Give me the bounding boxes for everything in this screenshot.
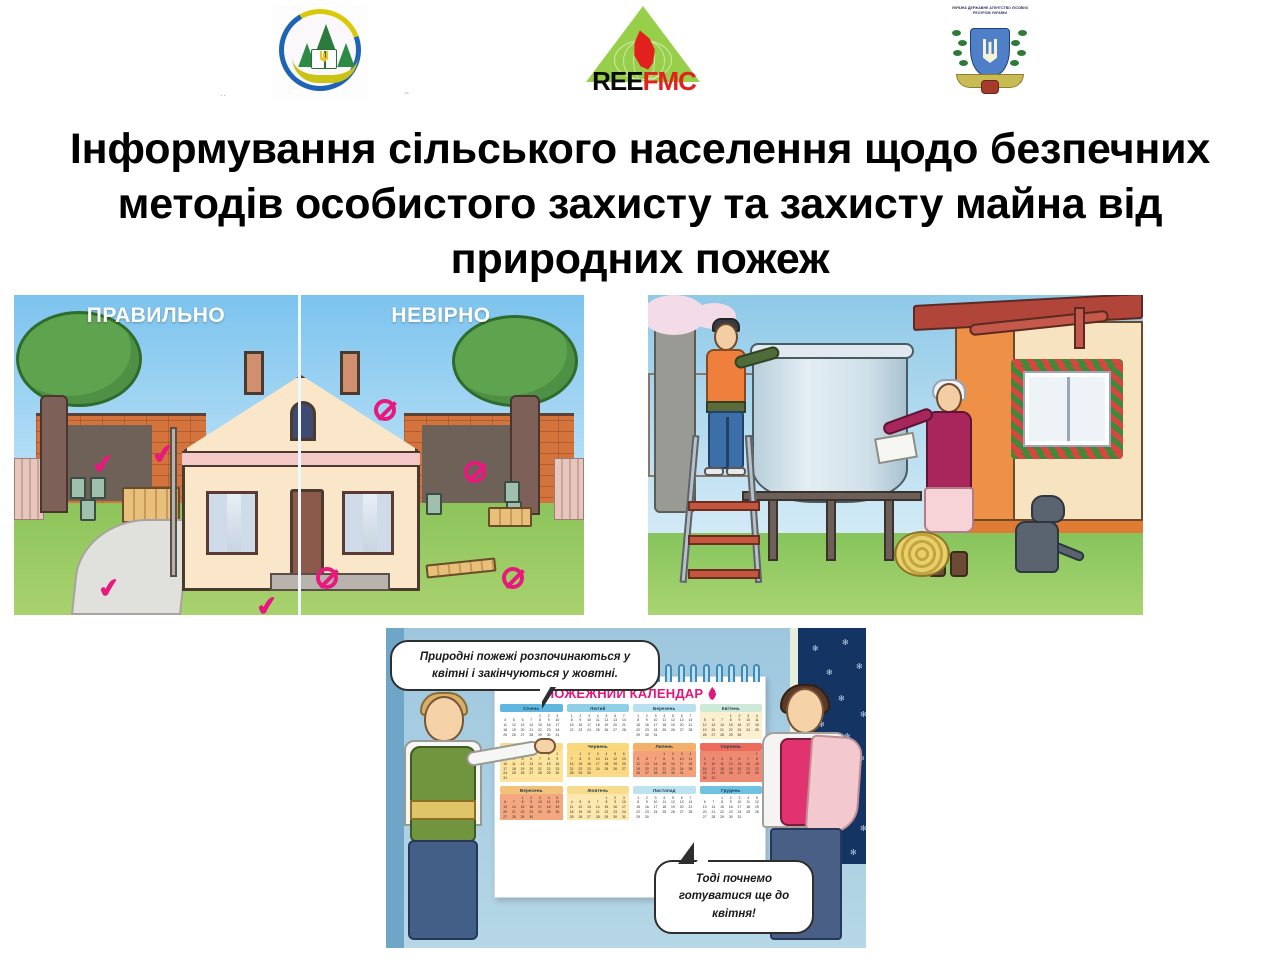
calendar-month-days: 1234567891011121314151617181920212223242…: [700, 794, 763, 820]
house-window: [1025, 373, 1109, 445]
speech-bubble-woman: Тоді почнемо готуватися ще до квітня!: [654, 860, 814, 934]
speech-bubble-tail: [542, 687, 556, 709]
jerrycan-left: [70, 477, 86, 499]
calendar-month-name: Липень: [633, 743, 696, 751]
calendar-months-grid: Січень1234567891011121314151617181920212…: [500, 704, 762, 824]
calendar-month-days: 1234567891011121314151617181920212223242…: [633, 712, 696, 738]
calendar-month-11: Листопад12345678910111213141516171819202…: [633, 786, 696, 821]
label-correct: ПРАВИЛЬНО: [14, 304, 298, 328]
woman-head: [936, 383, 962, 413]
house-door: [290, 489, 324, 577]
spiral-ring: [703, 664, 710, 682]
man-pointing-hand: [534, 738, 556, 754]
illustration-water-tank-preparation: [648, 295, 1143, 615]
speech-bubble-tail: [678, 842, 694, 864]
ghost-mark-left: ..: [220, 88, 227, 98]
tank-leg: [826, 495, 836, 561]
firewood-scattered-right: [488, 507, 532, 527]
flame-icon: [707, 687, 717, 700]
calendar-month-name: Квітень: [700, 704, 763, 712]
snowflake-icon: ✻: [860, 710, 866, 719]
house-window: [342, 491, 394, 555]
chimney: [244, 351, 264, 395]
shield-icon: [970, 28, 1010, 76]
woman-apron: [924, 487, 974, 533]
calendar-month-row: Вересень12345678910111213141516171819202…: [500, 786, 762, 821]
agency-emblem-caption: УКРАЇНА ДЕРЖАВНЕ АГЕНТСТВО ЛІСОВИХ РЕСУР…: [948, 6, 1032, 15]
tank-leg: [884, 495, 894, 561]
reefmc-logo-icon: REEFMC: [578, 4, 708, 100]
calendar-month-3: Березень12345678910111213141516171819202…: [633, 704, 696, 739]
reefmc-wordmark-part1: REE: [592, 66, 642, 96]
speech-bubble-woman-text: Тоді почнемо готуватися ще до квітня!: [679, 873, 789, 920]
prohibition-sign: [464, 461, 486, 483]
woman-head: [786, 688, 824, 734]
logo-bar: REEFMC УКРАЇНА ДЕРЖАВНЕ АГЕНТСТВО ЛІСОВИ…: [0, 0, 1280, 110]
calendar-month-12: Грудень123456789101112131415161718192021…: [700, 786, 763, 821]
man-shoe: [726, 467, 746, 476]
snowflake-icon: ✻: [842, 638, 849, 647]
calendar-month-days: 1234567891011121314151617181920212223242…: [567, 712, 630, 734]
label-incorrect: НЕВІРНО: [298, 304, 584, 328]
split-divider: [298, 295, 301, 615]
house-window: [206, 491, 258, 555]
man-trousers: [408, 840, 478, 940]
calendar-month-row: Січень1234567891011121314151617181920212…: [500, 704, 762, 739]
woman-coat: [926, 411, 972, 491]
calendar-month-name: Березень: [633, 704, 696, 712]
woman-shawl: [805, 734, 864, 835]
spiral-ring: [728, 664, 735, 682]
jerrycan-left: [90, 477, 106, 499]
calendar-month-days: 1234567891011121314151617181920212223242…: [700, 712, 763, 738]
calendar-month-days: 1234567891011121314151617181920212223242…: [567, 751, 630, 777]
snowflake-icon: ✻: [812, 644, 819, 653]
calendar-month-name: Серпень: [700, 743, 763, 751]
prohibition-sign: [502, 567, 524, 589]
prohibition-sign: [374, 399, 396, 421]
round-emblem-ring: [279, 9, 361, 91]
jerrycan-right: [504, 481, 520, 503]
calendar-month-days: 1234567891011121314151617181920212223242…: [500, 794, 563, 820]
forestry-college-emblem-icon: [271, 5, 369, 100]
man-head: [714, 323, 738, 351]
calendar-month-name: Червень: [567, 743, 630, 751]
fence-right: [554, 458, 584, 520]
attic-window: [290, 401, 316, 441]
calendar-month-name: Листопад: [633, 786, 696, 794]
medal-icon: [981, 80, 999, 94]
ladder-step: [688, 535, 760, 545]
reefmc-wordmark-part2: FMC: [643, 66, 696, 96]
downspout-pipe: [1074, 307, 1085, 349]
wreath-icon: [292, 57, 358, 83]
check-mark: ✔: [91, 452, 116, 477]
illustration-correct-incorrect-yard: ✔ ✔ ✔ ✔ ПРАВИЛЬНО НЕВІРНО: [14, 295, 584, 615]
speech-bubble-man-text: Природні пожежі розпочинаються у квітні …: [420, 651, 630, 680]
ghost-mark-right: ~: [404, 88, 410, 98]
calendar-month-6: Червень123456789101112131415161718192021…: [567, 743, 630, 782]
ladder-step: [688, 501, 760, 511]
man-woven-sash: [410, 800, 476, 820]
spiral-ring: [716, 664, 723, 682]
calendar-month-name: Лютий: [567, 704, 630, 712]
state-forest-agency-emblem-icon: УКРАЇНА ДЕРЖАВНЕ АГЕНТСТВО ЛІСОВИХ РЕСУР…: [940, 2, 1040, 102]
jerrycan-right: [426, 493, 442, 515]
snowflake-icon: ✻: [826, 668, 833, 677]
spiral-ring: [665, 664, 672, 682]
calendar-month-name: Грудень: [700, 786, 763, 794]
man-head: [424, 696, 464, 742]
calendar-month-name: Вересень: [500, 786, 563, 794]
dog: [1009, 495, 1081, 577]
dog-head: [1031, 495, 1065, 523]
spiral-ring: [678, 664, 685, 682]
calendar-month-days: 1234567891011121314151617181920212223242…: [700, 751, 763, 782]
calendar-month-days: 1234567891011121314151617181920212223242…: [567, 794, 630, 820]
check-mark: ✔: [97, 576, 122, 601]
house-trim-band: [182, 451, 420, 467]
calendar-month-8: Серпень123456789101112131415161718192021…: [700, 743, 763, 782]
calendar-month-2: Лютий12345678910111213141516171819202122…: [567, 704, 630, 739]
check-mark: ✔: [255, 594, 280, 615]
calendar-month-7: Липень1234567891011121314151617181920212…: [633, 743, 696, 782]
calendar-month-9: Вересень12345678910111213141516171819202…: [500, 786, 563, 821]
chimney: [340, 351, 360, 395]
calendar-month-name: Жовтень: [567, 786, 630, 794]
speech-bubble-man: Природні пожежі розпочинаються у квітні …: [390, 640, 660, 691]
woman-boot: [950, 551, 968, 577]
ladder-step: [688, 569, 760, 579]
page-title: Інформування сільського населення щодо б…: [60, 122, 1220, 287]
dog-body: [1015, 521, 1059, 573]
snowflake-icon: ✻: [860, 824, 866, 833]
man-shoe: [704, 467, 724, 476]
man-presenter: [394, 696, 504, 940]
calendar-month-days: 1234567891011121314151617181920212223242…: [500, 712, 563, 738]
trident-icon: [983, 39, 999, 63]
check-mark: ✔: [151, 442, 176, 467]
man-on-ladder: [700, 323, 752, 475]
calendar-month-4: Квітень123456789101112131415161718192021…: [700, 704, 763, 739]
spiral-ring: [690, 664, 697, 682]
calendar-month-10: Жовтень123456789101112131415161718192021…: [567, 786, 630, 821]
spiral-ring: [753, 664, 760, 682]
jerrycan-left: [80, 499, 96, 521]
calendar-month-days: 1234567891011121314151617181920212223242…: [633, 751, 696, 777]
snowflake-icon: ✻: [856, 662, 863, 671]
man-jeans: [708, 411, 744, 469]
illustration-fire-calendar-scene: ✻✻✻✻✻✻✻✻✻✻✻✻✻✻✻✻✻✻✻✻ ПОЖЕЖНИЙ КАЛЕНДАР С…: [386, 628, 866, 948]
coiled-hose: [894, 531, 950, 577]
prohibition-sign: [316, 567, 338, 589]
calendar-month-days: 1234567891011121314151617181920212223242…: [633, 794, 696, 820]
spiral-ring: [741, 664, 748, 682]
reefmc-wordmark: REEFMC: [584, 68, 704, 94]
